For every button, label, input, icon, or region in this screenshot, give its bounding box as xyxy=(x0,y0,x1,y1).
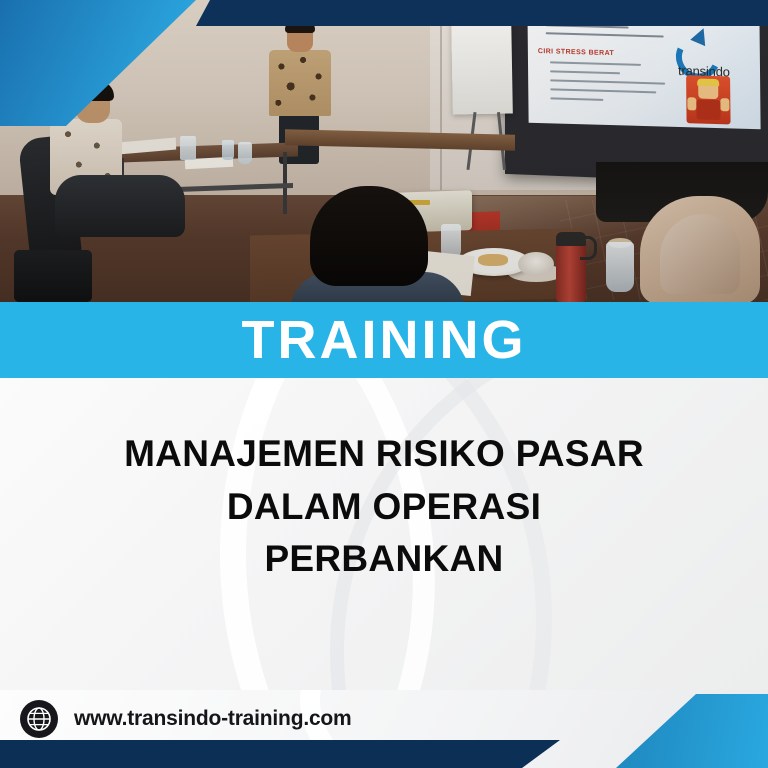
bag-on-floor xyxy=(14,250,92,302)
water-pitcher xyxy=(180,136,196,160)
flipchart-board xyxy=(451,17,513,114)
course-title-line-2: DALAM OPERASI xyxy=(0,481,768,534)
foreground-participant xyxy=(300,186,450,302)
office-chair xyxy=(55,175,185,237)
event-photo: CIRI STRESS BERAT transindo xyxy=(0,0,768,302)
tea-cup xyxy=(518,252,554,276)
course-title-line-1: MANAJEMEN RISIKO PASAR xyxy=(0,428,768,481)
food-item xyxy=(478,254,508,266)
course-title: MANAJEMEN RISIKO PASAR DALAM OPERASI PER… xyxy=(0,428,768,586)
globe-icon xyxy=(22,702,56,736)
slide-bullets-bottom xyxy=(550,61,670,109)
thermos-handle xyxy=(580,236,597,260)
course-title-line-3: PERBANKAN xyxy=(0,533,768,586)
slide-heading: CIRI STRESS BERAT xyxy=(538,48,614,57)
website-url[interactable]: www.transindo-training.com xyxy=(74,707,352,731)
hijab-participant xyxy=(640,196,768,302)
drinking-glass xyxy=(238,142,252,164)
training-poster: CIRI STRESS BERAT transindo xyxy=(0,0,768,768)
banner-title: TRAINING xyxy=(242,313,527,367)
drinking-glass xyxy=(222,140,234,160)
wall-seam xyxy=(440,0,442,190)
slide-cartoon-figure xyxy=(686,75,731,124)
website-row[interactable]: www.transindo-training.com xyxy=(22,702,352,736)
poster-body: MANAJEMEN RISIKO PASAR DALAM OPERASI PER… xyxy=(0,378,768,690)
training-banner: TRAINING xyxy=(0,302,768,378)
